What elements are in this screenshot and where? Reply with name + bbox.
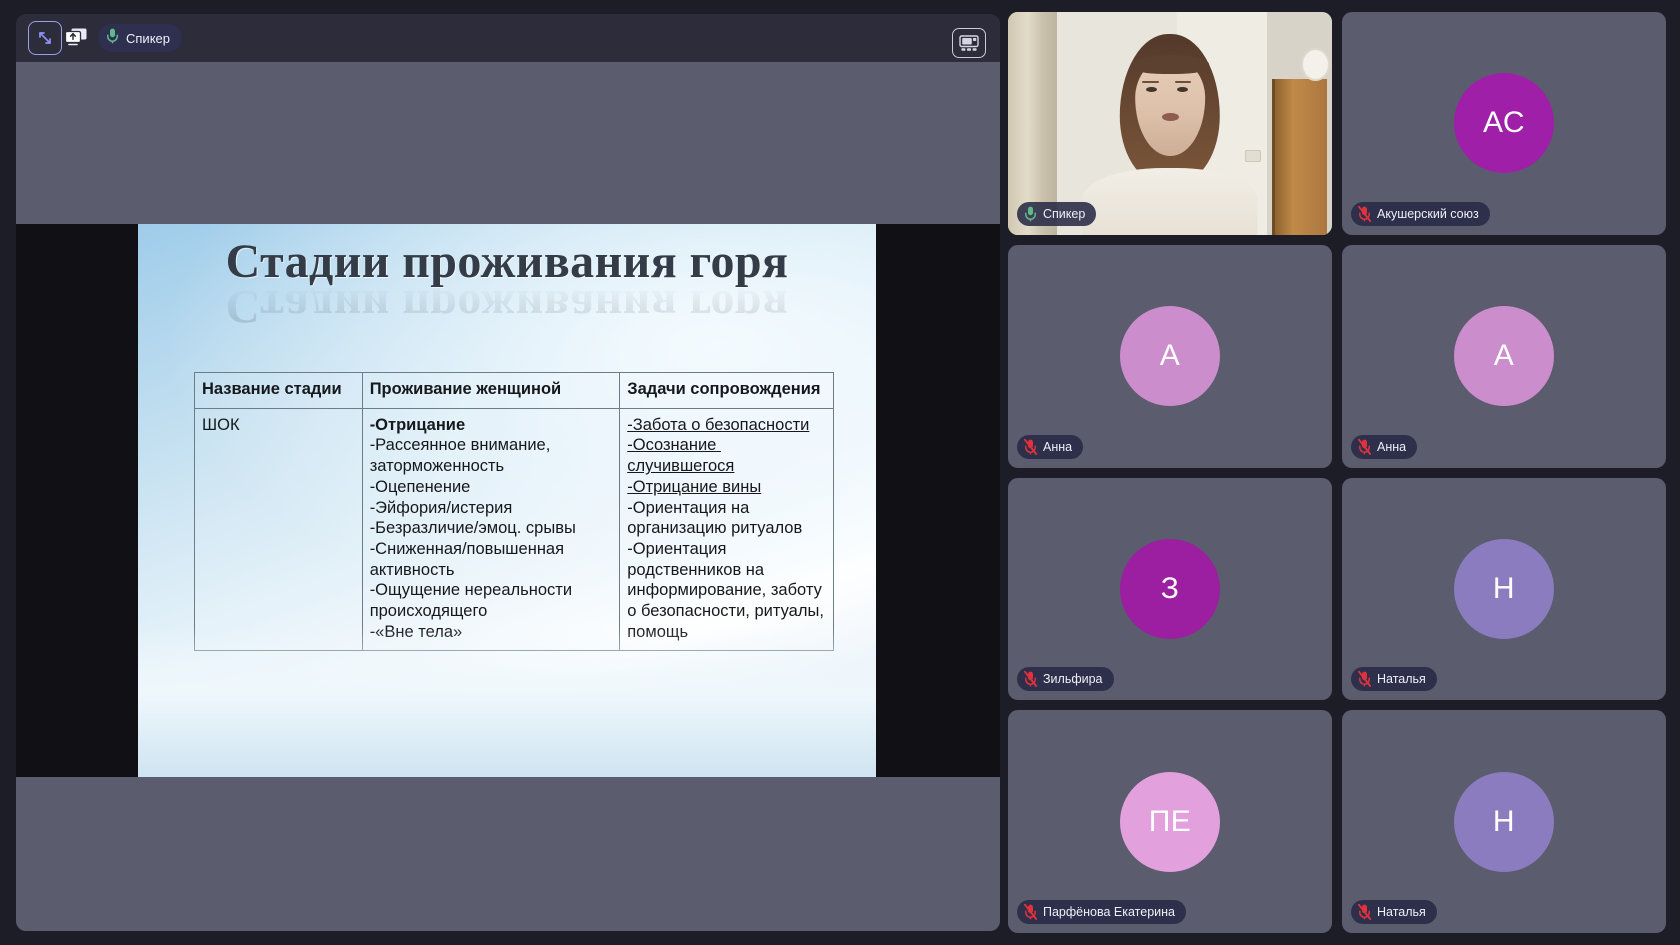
experience-line: -Эйфория/истерия bbox=[370, 498, 613, 519]
microphone-muted-icon bbox=[1358, 904, 1371, 920]
participant-tile[interactable]: Н Наталья bbox=[1342, 710, 1666, 933]
expand-arrows-icon[interactable] bbox=[28, 21, 62, 55]
participant-name: Парфёнова Екатерина bbox=[1043, 905, 1175, 919]
participant-name-badge: Зильфира bbox=[1017, 667, 1114, 691]
fringe bbox=[1131, 55, 1209, 74]
participant-name-badge: Парфёнова Екатерина bbox=[1017, 900, 1186, 924]
avatar: АС bbox=[1454, 73, 1554, 173]
participant-name: Наталья bbox=[1377, 672, 1426, 686]
active-speaker-label: Спикер bbox=[126, 31, 170, 46]
participant-tile[interactable]: А Анна bbox=[1342, 245, 1666, 468]
page-title: Стадии проживания горя bbox=[138, 238, 876, 287]
eyebrow-right bbox=[1175, 81, 1191, 83]
active-speaker-pill: Спикер bbox=[98, 24, 182, 52]
table-header-row: Название стадии Проживание женщиной Зада… bbox=[195, 373, 834, 409]
microphone-muted-icon bbox=[1024, 439, 1037, 455]
meeting-window: Спикер Стадии проживания горя Ста bbox=[0, 0, 1680, 945]
cell-experience: -Отрицание-Рассеянное внимание, затормож… bbox=[362, 408, 620, 651]
participant-tile[interactable]: ПЕ Парфёнова Екатерина bbox=[1008, 710, 1332, 933]
slide-title-block: Стадии проживания горя Стадии проживания… bbox=[138, 238, 876, 330]
participant-name-badge: Спикер bbox=[1017, 202, 1096, 226]
participant-name: Зильфира bbox=[1043, 672, 1103, 686]
screen-share-icon[interactable] bbox=[64, 27, 88, 49]
avatar: Н bbox=[1454, 539, 1554, 639]
eye-right bbox=[1177, 87, 1188, 92]
participant-name: Анна bbox=[1377, 440, 1406, 454]
column-header-stage-name: Название стадии bbox=[195, 373, 363, 409]
participant-tile[interactable]: А Анна bbox=[1008, 245, 1332, 468]
wall-clock bbox=[1301, 48, 1330, 81]
table-row: ШОК -Отрицание-Рассеянное внимание, зато… bbox=[195, 408, 834, 651]
participant-grid: Спикер АС Акушерский союз А Анна А bbox=[1000, 0, 1680, 945]
participant-name: Спикер bbox=[1043, 207, 1085, 221]
participant-tile[interactable]: Н Наталья bbox=[1342, 478, 1666, 701]
microphone-muted-icon bbox=[1358, 206, 1371, 222]
participant-name: Наталья bbox=[1377, 905, 1426, 919]
column-header-tasks: Задачи сопровождения bbox=[620, 373, 834, 409]
experience-line: -Ощущение нереальности происходящего bbox=[370, 580, 613, 621]
experience-line: -«Вне тела» bbox=[370, 622, 613, 643]
layout-view-icon[interactable] bbox=[952, 28, 986, 58]
wall-socket bbox=[1245, 150, 1261, 162]
stage-inner: Спикер Стадии проживания горя Ста bbox=[16, 14, 1000, 931]
experience-line: -Рассеянное внимание, заторможенность bbox=[370, 435, 613, 476]
participant-tile[interactable]: Спикер bbox=[1008, 12, 1332, 235]
participant-name-badge: Наталья bbox=[1351, 900, 1437, 924]
avatar: З bbox=[1120, 539, 1220, 639]
eye-left bbox=[1146, 87, 1157, 92]
microphone-muted-icon bbox=[1358, 671, 1371, 687]
microphone-icon bbox=[1024, 206, 1037, 222]
torso bbox=[1083, 168, 1258, 235]
participant-tile[interactable]: З Зильфира bbox=[1008, 478, 1332, 701]
microphone-muted-icon bbox=[1024, 671, 1037, 687]
participant-name-badge: Акушерский союз bbox=[1351, 202, 1490, 226]
avatar: ПЕ bbox=[1120, 772, 1220, 872]
participant-name-badge: Анна bbox=[1351, 435, 1417, 459]
microphone-icon bbox=[106, 28, 119, 49]
experience-line: -Оцепенение bbox=[370, 477, 613, 498]
participant-name: Анна bbox=[1043, 440, 1072, 454]
experience-line: -Отрицание bbox=[370, 415, 613, 436]
shared-slide[interactable]: Стадии проживания горя Стадии проживания… bbox=[138, 224, 876, 777]
slide-title-reflection: Стадии проживания горя bbox=[138, 281, 876, 330]
microphone-muted-icon bbox=[1358, 439, 1371, 455]
microphone-muted-icon bbox=[1024, 904, 1037, 920]
cell-tasks: -Забота о безопасности-Осознание случивш… bbox=[620, 408, 834, 651]
tasks-line: -Осознание случившегося bbox=[627, 435, 826, 476]
stage-toolbar: Спикер bbox=[16, 14, 1000, 62]
participant-name-badge: Анна bbox=[1017, 435, 1083, 459]
cell-stage-name: ШОК bbox=[195, 408, 363, 651]
participant-tile[interactable]: АС Акушерский союз bbox=[1342, 12, 1666, 235]
experience-line: -Сниженная/повышенная активность bbox=[370, 539, 613, 580]
tasks-line: -Отрицание вины bbox=[627, 477, 826, 498]
screen-share-stage: Спикер Стадии проживания горя Ста bbox=[0, 0, 1000, 945]
tasks-line: -Забота о безопасности bbox=[627, 415, 826, 436]
eyebrow-left bbox=[1142, 81, 1158, 83]
door bbox=[1272, 79, 1327, 235]
participant-name: Акушерский союз bbox=[1377, 207, 1479, 221]
avatar: А bbox=[1454, 306, 1554, 406]
participant-name-badge: Наталья bbox=[1351, 667, 1437, 691]
avatar: Н bbox=[1454, 772, 1554, 872]
column-header-experience: Проживание женщиной bbox=[362, 373, 620, 409]
stages-table: Название стадии Проживание женщиной Зада… bbox=[194, 372, 834, 651]
tasks-line: -Ориентация на организацию ритуалов bbox=[627, 498, 826, 539]
tasks-line: -Ориентация родственников на информирова… bbox=[627, 539, 826, 643]
avatar: А bbox=[1120, 306, 1220, 406]
experience-line: -Безразличие/эмоц. срывы bbox=[370, 518, 613, 539]
